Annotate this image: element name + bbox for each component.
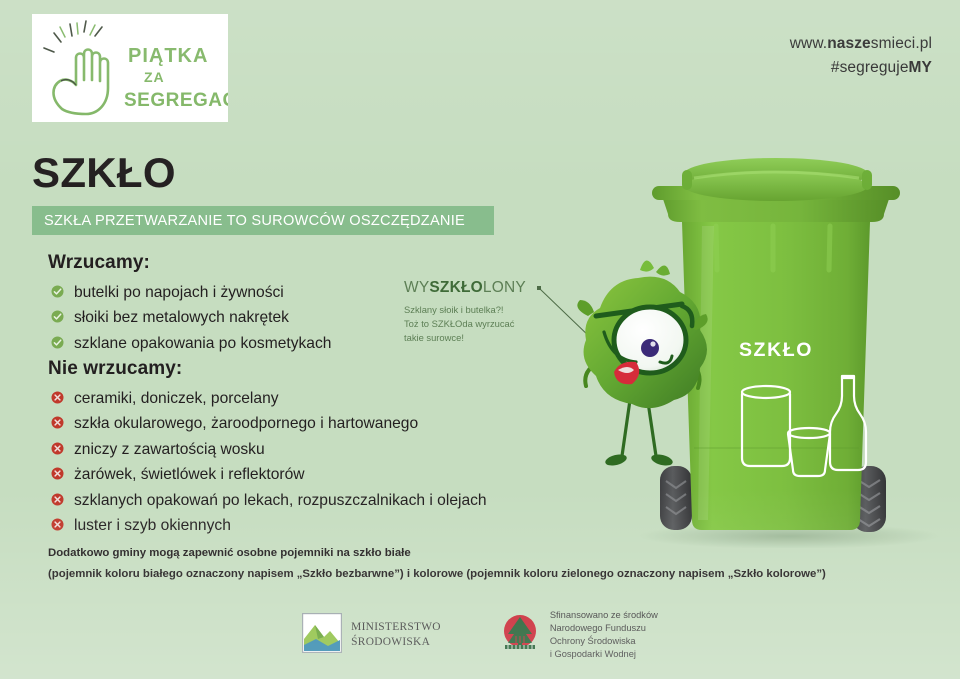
subtitle-band: SZKŁA PRZETWARZANIE TO SUROWCÓW OSZCZĘDZ… [32,206,494,235]
callout-title: WYSZKŁOLONY [404,280,554,296]
cross-circle-icon [51,467,64,480]
nfosigw-line-1: Sfinansowano ze środków [550,609,658,622]
footnote: Dodatkowo gminy mogą zapewnić osobne poj… [48,543,848,585]
nfosigw-logo-text: Sfinansowano ze środków Narodowego Fundu… [550,609,658,662]
list-item-label: słoiki bez metalowych nakrętek [74,306,289,329]
url-prefix: www. [790,35,827,52]
list-item-label: zniczy z zawartością wosku [74,438,265,461]
list-item-label: żarówek, świetlówek i reflektorów [74,463,305,486]
url-bold: nasze [827,35,871,52]
callout-body: Szklany słoik i butelka?! Toż to SZKŁOda… [404,303,554,345]
callout-body-line: takie surowce! [404,331,554,345]
ministry-of-environment-logo: MINISTERSTWO ŚRODOWISKA [302,613,441,658]
bin-label: SZKŁO [739,339,813,361]
nfosigw-tree-icon [499,612,541,659]
accept-items: butelki po napojach i żywności słoiki be… [48,280,331,356]
logo-line-3: SEGREGACJĘ [124,90,228,111]
list-item: szklanych opakowań po lekach, rozpuszcza… [48,488,487,513]
nfosigw-line-4: i Gospodarki Wodnej [550,648,658,661]
callout-block: WYSZKŁOLONY Szklany słoik i butelka?! To… [404,280,554,345]
list-item: ceramiki, doniczek, porcelany [48,386,487,411]
cross-circle-icon [51,493,64,506]
cross-circle-icon [51,442,64,455]
list-item-label: szklanych opakowań po lekach, rozpuszcza… [74,489,487,512]
check-circle-icon [51,336,64,349]
logo-line-1: PIĄTKA [128,45,208,67]
site-links: www.naszesmieci.pl #segregujeMY [790,32,932,79]
footnote-line-2: (pojemnik koloru białego oznaczony napis… [48,564,848,585]
callout-body-line: Szklany słoik i butelka?! [404,303,554,317]
callout-body-line: Toż to SZKŁOda wyrzucać [404,317,554,331]
cross-circle-icon [51,391,64,404]
logo-box: PIĄTKA ZA SEGREGACJĘ [32,14,228,122]
list-item-label: butelki po napojach i żywności [74,281,284,304]
ministry-logo-text: MINISTERSTWO ŚRODOWISKA [351,620,441,651]
nfosigw-line-3: Ochrony Środowiska [550,635,658,648]
url-suffix: smieci.pl [871,35,932,52]
list-item: zniczy z zawartością wosku [48,437,487,462]
nfosigw-line-2: Narodowego Funduszu [550,622,658,635]
subtitle-text: SZKŁA PRZETWARZANIE TO SUROWCÓW OSZCZĘDZ… [32,213,465,229]
list-item-label: ceramiki, doniczek, porcelany [74,387,279,410]
page-title: SZKŁO [32,152,176,194]
list-item: słoiki bez metalowych nakrętek [48,305,331,330]
check-circle-icon [51,285,64,298]
callout-title-prefix: WY [404,279,429,296]
callout-title-suffix: LONY [483,279,526,296]
list-item: butelki po napojach i żywności [48,280,331,305]
website-url[interactable]: www.naszesmieci.pl [790,32,932,56]
nfosigw-logo: Sfinansowano ze środków Narodowego Fundu… [499,609,658,662]
poster-canvas: PIĄTKA ZA SEGREGACJĘ www.naszesmieci.pl … [0,0,960,679]
ministry-line-1: MINISTERSTWO [351,620,441,635]
accept-heading: Wrzucamy: [48,252,331,274]
hashtag-light: #segreguje [831,59,909,76]
cross-circle-icon [51,416,64,429]
list-item: luster i szyb okiennych [48,513,487,538]
list-item: szkła okularowego, żaroodpornego i harto… [48,411,487,436]
list-item: szklane opakowania po kosmetykach [48,331,331,356]
list-item: żarówek, świetlówek i reflektorów [48,462,487,487]
list-item-label: luster i szyb okiennych [74,514,231,537]
glass-bin-illustration: SZKŁO [574,148,960,548]
check-circle-icon [51,310,64,323]
bin-wheel-left [660,466,692,530]
footnote-line-1: Dodatkowo gminy mogą zapewnić osobne poj… [48,543,848,564]
ministry-landscape-icon [302,613,342,658]
list-item-label: szkła okularowego, żaroodpornego i harto… [74,412,418,435]
ministry-line-2: ŚRODOWISKA [351,635,441,650]
reject-list-block: Nie wrzucamy: ceramiki, doniczek, porcel… [48,358,487,538]
reject-heading: Nie wrzucamy: [48,358,487,380]
hashtag[interactable]: #segregujeMY [790,56,932,80]
accept-list-block: Wrzucamy: butelki po napojach i żywności… [48,252,331,356]
footer-logos: MINISTERSTWO ŚRODOWISKA [0,604,960,666]
piatka-za-segregacje-logo: PIĄTKA ZA SEGREGACJĘ [32,14,228,122]
callout-title-bold: SZKŁO [429,279,483,296]
reject-items: ceramiki, doniczek, porcelany szkła okul… [48,386,487,538]
hashtag-bold: MY [909,59,932,76]
cross-circle-icon [51,518,64,531]
logo-line-2: ZA [144,69,165,85]
list-item-label: szklane opakowania po kosmetykach [74,332,331,355]
